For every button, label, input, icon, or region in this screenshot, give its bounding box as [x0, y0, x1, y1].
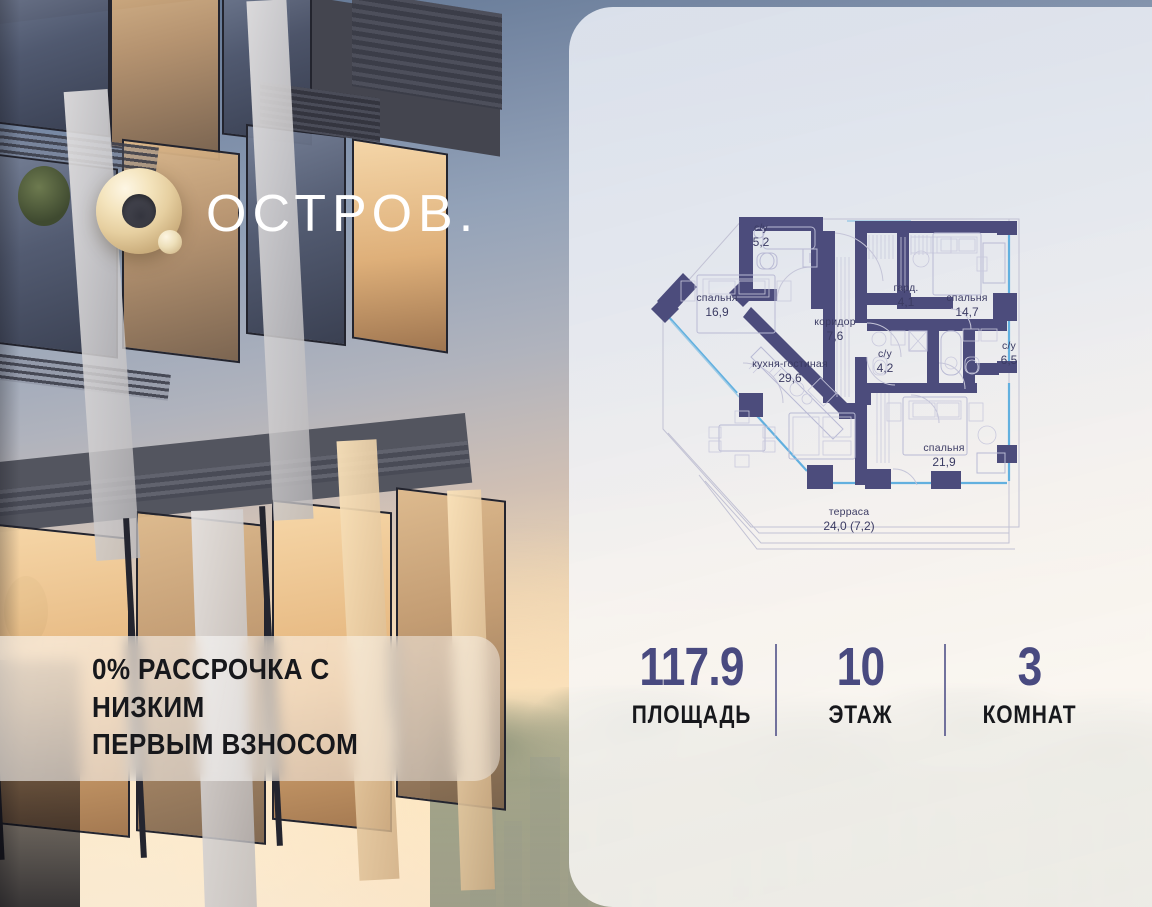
- poster-root: ОСТРОВ. 0% РАССРОЧКА С НИЗКИМ ПЕРВЫМ ВЗН…: [0, 0, 1152, 907]
- promo-text: 0% РАССРОЧКА С НИЗКИМ ПЕРВЫМ ВЗНОСОМ: [92, 652, 436, 765]
- apartment-stats: 117.9 ПЛОЩАДЬ 10 ЭТАЖ 3 КОМНАТ: [569, 640, 1152, 760]
- floor-plan: .w { fill:#4c4c7c; } .gl { stroke:#62b0d…: [611, 197, 1121, 577]
- plan-card: .w { fill:#4c4c7c; } .gl { stroke:#62b0d…: [569, 7, 1152, 907]
- brand-logo[interactable]: ОСТРОВ.: [96, 168, 479, 264]
- stat-area-value: 117.9: [628, 640, 755, 694]
- logo-mark: [96, 168, 192, 264]
- stat-area-label: ПЛОЩАДЬ: [626, 703, 756, 728]
- stat-rooms-label: КОМНАТ: [964, 703, 1094, 728]
- promo-banner: 0% РАССРОЧКА С НИЗКИМ ПЕРВЫМ ВЗНОСОМ: [0, 636, 500, 781]
- stat-floor-label: ЭТАЖ: [795, 703, 925, 728]
- stat-area: 117.9 ПЛОЩАДЬ: [614, 640, 769, 728]
- stat-rooms-value: 3: [966, 640, 1093, 694]
- stat-divider: [944, 644, 946, 736]
- stat-divider: [775, 644, 777, 736]
- stat-rooms: 3 КОМНАТ: [952, 640, 1107, 728]
- brand-name: ОСТРОВ.: [206, 188, 479, 244]
- sphere-dot-icon: [158, 230, 182, 254]
- floor-plan-drawing: .w { fill:#4c4c7c; } .gl { stroke:#62b0d…: [611, 197, 1121, 577]
- stat-floor-value: 10: [797, 640, 924, 694]
- stat-floor: 10 ЭТАЖ: [783, 640, 938, 728]
